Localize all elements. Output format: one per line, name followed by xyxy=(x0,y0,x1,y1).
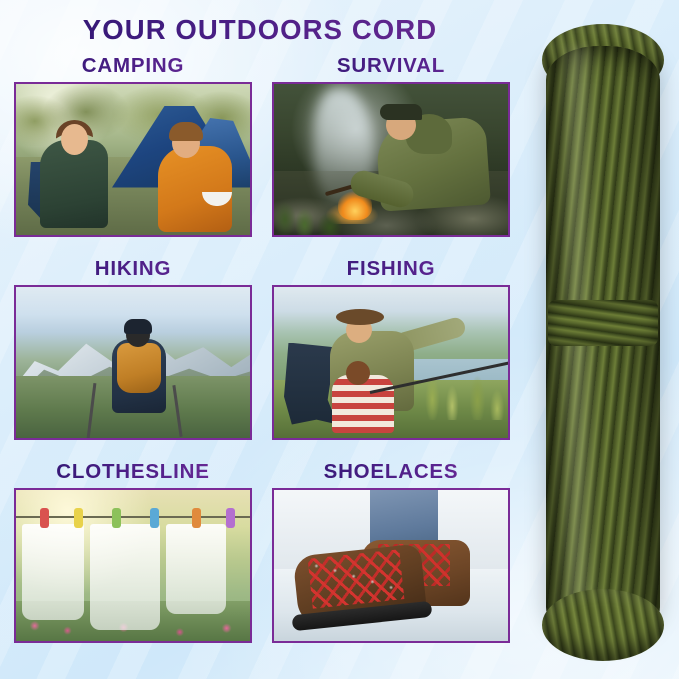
clothespin xyxy=(40,508,49,528)
shoelaces-eyelets xyxy=(305,546,410,610)
clothespin xyxy=(112,508,121,528)
camping-woman-head xyxy=(61,124,88,155)
clothespin xyxy=(226,508,235,528)
clothespin xyxy=(74,508,83,528)
use-case-card-camping: CAMPING xyxy=(14,56,252,237)
card-caption-camping: CAMPING xyxy=(14,56,252,77)
paracord-bottom-loop xyxy=(542,589,664,661)
card-caption-clothesline: CLOTHESLINE xyxy=(14,462,252,483)
card-photo-clothesline xyxy=(14,488,252,643)
card-caption-fishing: FISHING xyxy=(272,259,510,280)
use-case-grid: CAMPING SURVIVAL xyxy=(0,56,520,666)
clothesline-garment xyxy=(166,524,226,614)
fishing-reeds xyxy=(418,350,508,420)
card-photo-hiking xyxy=(14,285,252,440)
hiking-hiker-beanie xyxy=(124,319,152,334)
paracord-center-wrap xyxy=(548,300,658,346)
card-caption-hiking: HIKING xyxy=(14,259,252,280)
product-infographic: YOUR OUTDOORS CORD CAMPING xyxy=(0,0,679,679)
fishing-boy-head xyxy=(346,361,370,385)
camping-man-body xyxy=(158,146,232,232)
use-case-card-fishing: FISHING xyxy=(272,259,510,440)
survival-foliage xyxy=(274,183,364,235)
product-image-paracord xyxy=(520,0,679,679)
page-title: YOUR OUTDOORS CORD xyxy=(0,14,520,46)
use-case-card-clothesline: CLOTHESLINE xyxy=(14,462,252,643)
card-photo-fishing xyxy=(272,285,510,440)
fishing-man-hat xyxy=(336,309,384,325)
use-case-card-survival: SURVIVAL xyxy=(272,56,510,237)
clothesline-rope xyxy=(16,516,250,518)
clothespin xyxy=(192,508,201,528)
use-case-card-shoelaces: SHOELACES xyxy=(272,462,510,643)
card-photo-camping xyxy=(14,82,252,237)
card-photo-shoelaces xyxy=(272,488,510,643)
clothesline-garment xyxy=(22,524,84,620)
survival-man-cap xyxy=(380,104,422,120)
use-case-card-hiking: HIKING xyxy=(14,259,252,440)
hiking-backpack xyxy=(117,343,161,393)
card-caption-shoelaces: SHOELACES xyxy=(272,462,510,483)
card-caption-survival: SURVIVAL xyxy=(272,56,510,77)
card-photo-survival xyxy=(272,82,510,237)
clothespin xyxy=(150,508,159,528)
camping-man-beanie xyxy=(169,122,203,141)
clothesline-garment xyxy=(90,524,160,630)
